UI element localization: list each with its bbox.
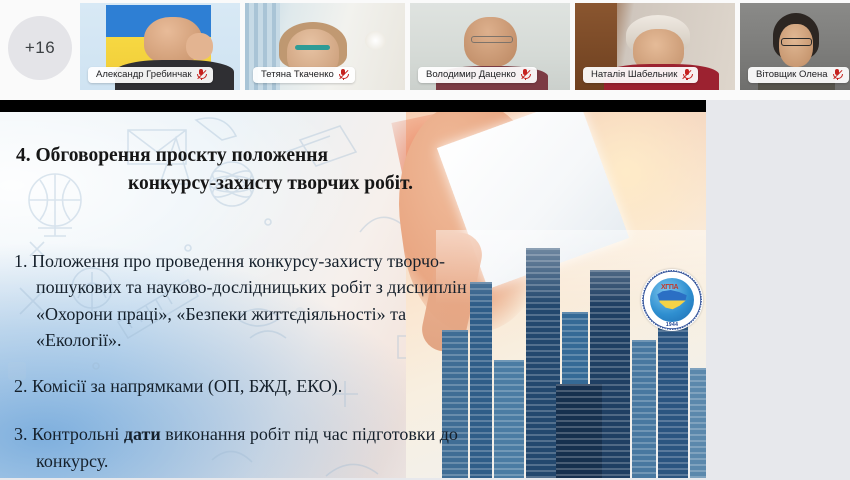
participant-filmstrip: +16 Александр Гребинчак Тетяна Ткаченко (0, 0, 850, 100)
participant-tile[interactable]: Наталія Шабельник (575, 3, 735, 90)
overflow-participants-badge[interactable]: +16 (8, 16, 72, 80)
slide-bullet-3-text-before: 3. Контрольні (14, 424, 124, 444)
slide-title-line-2: конкурсу-захисту творчих робіт. (16, 170, 486, 198)
participant-name: Тетяна Ткаченко (261, 69, 334, 80)
mic-muted-icon (197, 69, 206, 80)
slide-bullet-2-text: 2. Комісії за напрямками (ОП, БЖД, ЕКО). (14, 376, 342, 396)
empty-side-panel (706, 100, 850, 480)
participant-name: Володимир Даценко (426, 69, 516, 80)
slide-letterbox-bar (0, 100, 706, 112)
participant-glasses (295, 45, 330, 50)
slide-bullet-1: 1. Положення про проведення конкурсу-зах… (14, 248, 494, 353)
mic-muted-icon (521, 69, 530, 80)
slide-bullet-3-bold: дати (124, 424, 161, 444)
participant-glasses (781, 38, 813, 46)
slide-text-layer: 4. Обговорення просктy положення конкурс… (0, 112, 706, 480)
participant-hand (186, 33, 213, 61)
participant-name-chip: Вітовщик Олена (748, 67, 849, 83)
mic-muted-icon (339, 69, 348, 80)
participant-name-chip: Тетяна Ткаченко (253, 67, 355, 83)
participant-glasses (471, 36, 513, 43)
participant-name-chip: Наталія Шабельник (583, 67, 698, 83)
slide-body: 1. Положення про проведення конкурсу-зах… (14, 248, 494, 474)
participant-tile[interactable]: Володимир Даценко (410, 3, 570, 90)
participant-name-chip: Володимир Даценко (418, 67, 537, 83)
overflow-participants-count: +16 (25, 38, 55, 58)
mic-muted-icon (833, 69, 842, 80)
participant-tile[interactable]: Вітовщик Олена (740, 3, 850, 90)
mic-muted-icon (682, 69, 691, 80)
participant-name: Вітовщик Олена (756, 69, 828, 80)
participant-tile[interactable]: Александр Гребинчак (80, 3, 240, 90)
participant-name-chip: Александр Гребинчак (88, 67, 213, 83)
slide-bullet-3: 3. Контрольні дати виконання робіт під ч… (14, 421, 494, 474)
participant-name: Наталія Шабельник (591, 69, 677, 80)
participant-tile[interactable]: Тетяна Ткаченко (245, 3, 405, 90)
slide-bullet-2: 2. Комісії за напрямками (ОП, БЖД, ЕКО). (14, 373, 494, 399)
slide-title-line-1: 4. Обговорення просктy положення (16, 145, 328, 166)
room-light (365, 31, 386, 50)
slide-bullet-1-text: 1. Положення про проведення конкурсу-зах… (14, 251, 467, 350)
shared-screen-region[interactable]: ХГПА 1944 4. Обговорення просктy положен… (0, 100, 706, 480)
presentation-slide: ХГПА 1944 4. Обговорення просктy положен… (0, 112, 706, 480)
slide-title: 4. Обговорення просктy положення конкурс… (16, 142, 486, 197)
participant-name: Александр Гребинчак (96, 69, 192, 80)
